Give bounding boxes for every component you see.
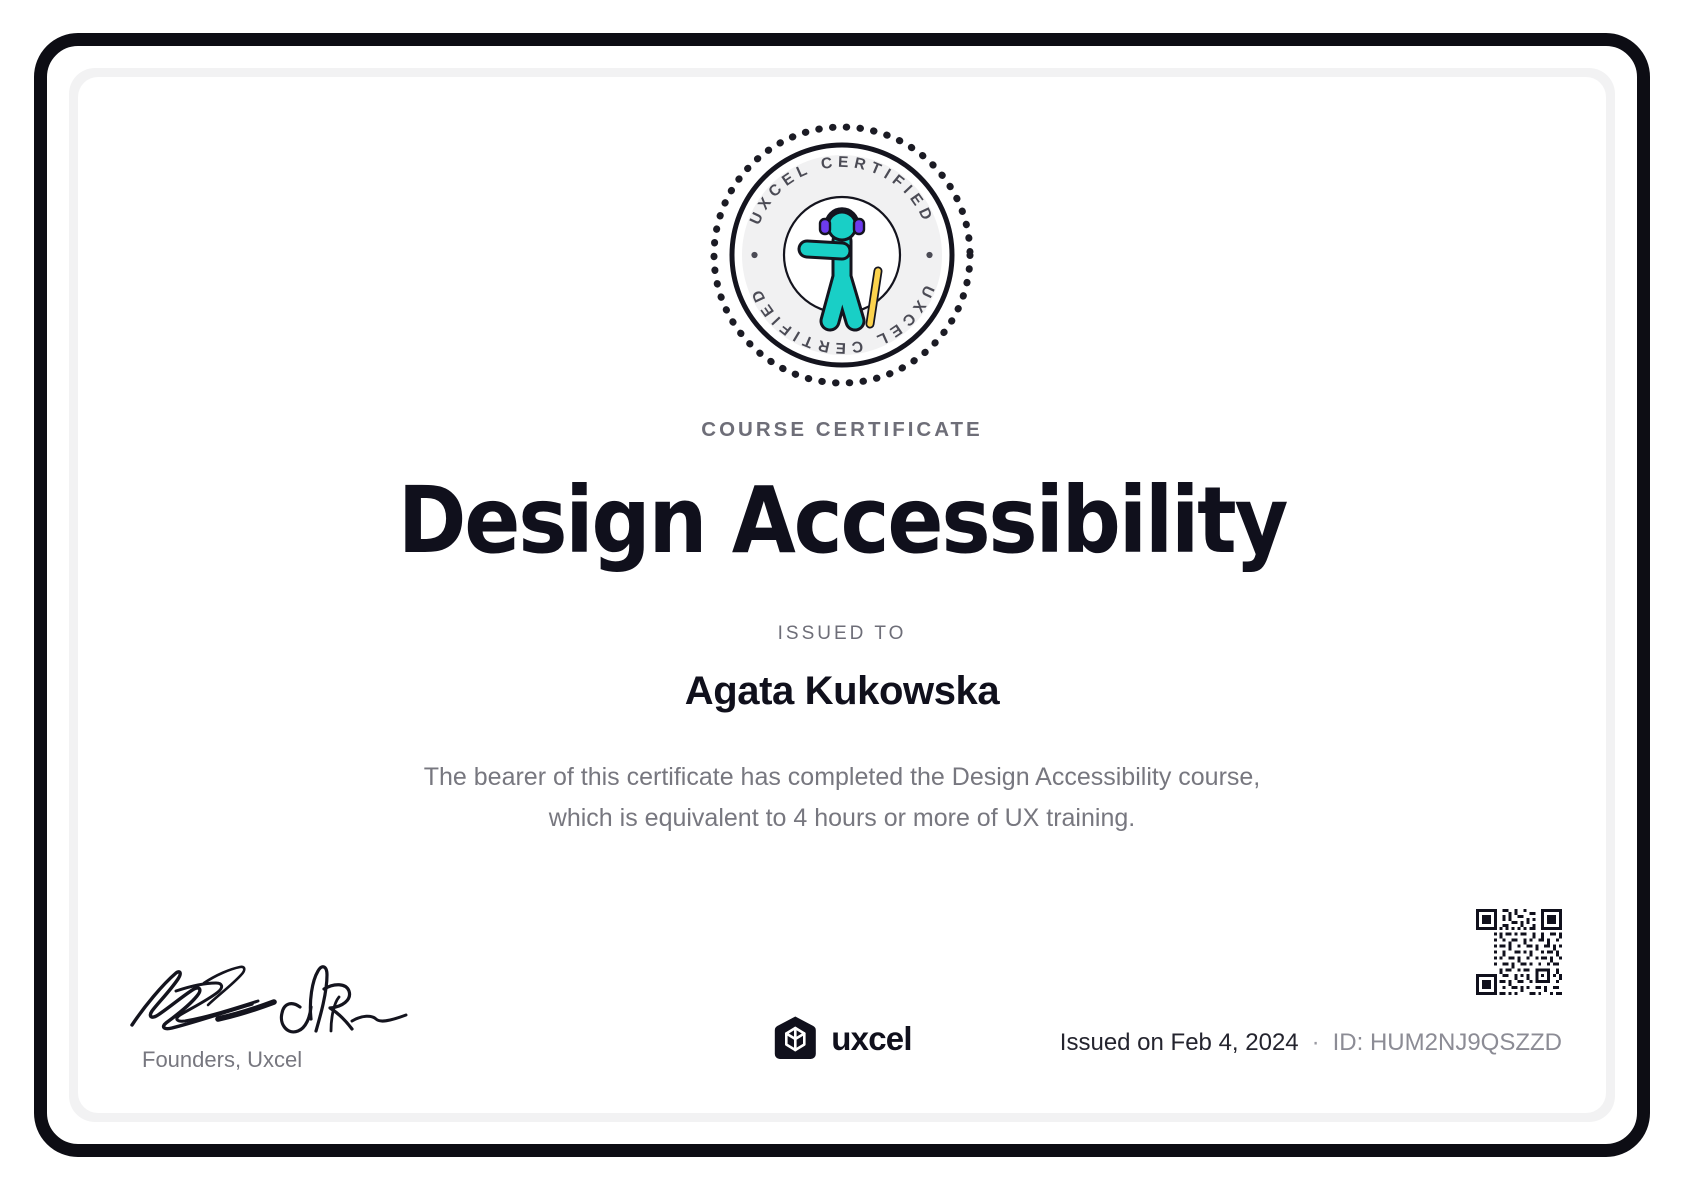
uxcel-cube-logo-icon [772, 1015, 818, 1061]
certificate-eyebrow: COURSE CERTIFICATE [78, 418, 1606, 442]
certificate-meta: Issued on Feb 4, 2024 · ID: HUM2NJ9QSZZD [1060, 1029, 1562, 1057]
signature-block: Founders, Uxcel [118, 945, 448, 1073]
certificate-card: UXCEL CERTIFIED UXCEL CERTIFIED [78, 77, 1606, 1113]
uxcel-wordmark: uxcel [831, 1022, 911, 1055]
recipient-name: Agata Kukowska [78, 669, 1606, 714]
certification-badge: UXCEL CERTIFIED UXCEL CERTIFIED [708, 121, 976, 389]
issued-to-label: ISSUED TO [78, 623, 1606, 645]
qr-code[interactable] [1476, 909, 1562, 995]
description-line-2: which is equivalent to 4 hours or more o… [392, 798, 1292, 839]
certificate-id: ID: HUM2NJ9QSZZD [1333, 1029, 1562, 1057]
certificate-frame: UXCEL CERTIFIED UXCEL CERTIFIED [34, 33, 1650, 1157]
certificate-title: Design Accessibility [78, 469, 1606, 573]
handwritten-signatures-icon [118, 945, 418, 1037]
meta-separator: · [1312, 1029, 1320, 1057]
certificate-page: UXCEL CERTIFIED UXCEL CERTIFIED [0, 0, 1684, 1190]
certificate-description: The bearer of this certificate has compl… [392, 757, 1292, 839]
uxcel-logo: uxcel [772, 1015, 911, 1061]
signature-caption: Founders, Uxcel [118, 1047, 448, 1073]
issue-date: Issued on Feb 4, 2024 [1060, 1029, 1299, 1057]
description-line-1: The bearer of this certificate has compl… [392, 757, 1292, 798]
certificate-inner-panel: UXCEL CERTIFIED UXCEL CERTIFIED [69, 68, 1615, 1122]
uxcel-certified-seal-icon: UXCEL CERTIFIED UXCEL CERTIFIED [708, 121, 976, 389]
qr-code-icon[interactable] [1476, 909, 1562, 995]
